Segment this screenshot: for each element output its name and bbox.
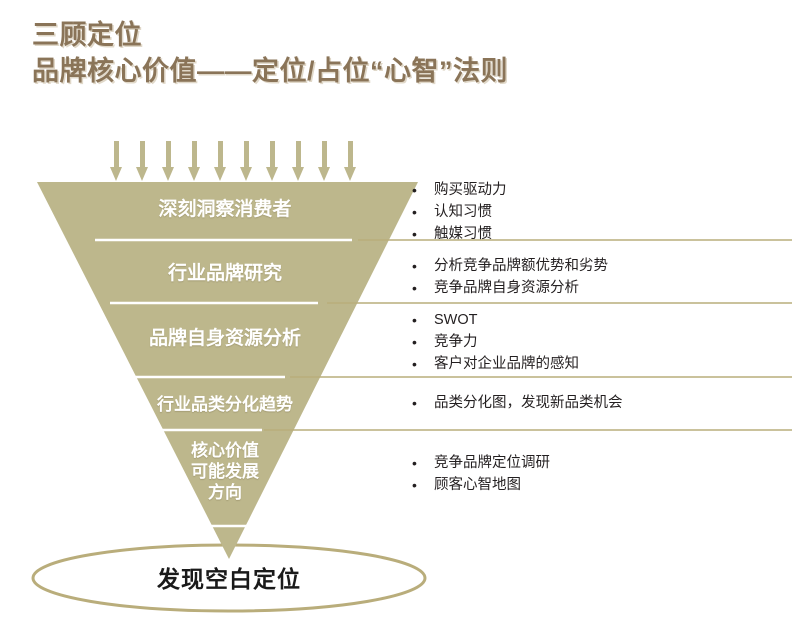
bullet-dot-icon: • bbox=[412, 474, 434, 496]
bullet-item: •认知习惯 bbox=[412, 201, 792, 223]
arrow-down-icon bbox=[344, 141, 357, 181]
arrow-head bbox=[136, 167, 148, 181]
arrow-down-icon bbox=[266, 141, 279, 181]
title-line-secondary: 品牌核心价值——定位/占位“心智”法则 bbox=[32, 52, 772, 90]
funnel-stage-label-5: 核心价值 可能发展 方向 bbox=[150, 440, 300, 503]
bullet-dot-icon: • bbox=[412, 309, 434, 331]
bullet-dot-icon: • bbox=[412, 179, 434, 201]
funnel-stage-label-1: 深刻洞察消费者 bbox=[90, 198, 360, 222]
bullet-dot-icon: • bbox=[412, 331, 434, 353]
title-line-primary: 三顾定位 bbox=[32, 18, 772, 52]
arrow-shaft bbox=[114, 141, 119, 168]
arrow-head bbox=[266, 167, 278, 181]
arrow-head bbox=[344, 167, 356, 181]
funnel-stage-label-2: 行业品牌研究 bbox=[100, 262, 350, 286]
bullet-dot-icon: • bbox=[412, 201, 434, 223]
bullet-item: •分析竞争品牌额优势和劣势 bbox=[412, 255, 792, 277]
bullet-item: •竞争力 bbox=[412, 331, 792, 353]
bullet-group-5: •竞争品牌定位调研•顾客心智地图 bbox=[412, 452, 792, 496]
bullet-group-2: •分析竞争品牌额优势和劣势•竞争品牌自身资源分析 bbox=[412, 255, 792, 299]
bullet-item: •购买驱动力 bbox=[412, 179, 792, 201]
bullet-text: 分析竞争品牌额优势和劣势 bbox=[434, 255, 792, 277]
bullet-text: SWOT bbox=[434, 309, 792, 331]
bullet-group-3: •SWOT•竞争力•客户对企业品牌的感知 bbox=[412, 309, 792, 375]
bullet-text: 顾客心智地图 bbox=[434, 474, 792, 496]
bullet-dot-icon: • bbox=[412, 255, 434, 277]
arrow-shaft bbox=[296, 141, 301, 168]
arrow-down-icon bbox=[292, 141, 305, 181]
arrow-shaft bbox=[270, 141, 275, 168]
bullet-item: •竞争品牌定位调研 bbox=[412, 452, 792, 474]
bullet-dot-icon: • bbox=[412, 353, 434, 375]
bullet-dot-icon: • bbox=[412, 223, 434, 245]
arrow-head bbox=[292, 167, 304, 181]
arrow-shaft bbox=[218, 141, 223, 168]
page-title: 三顾定位 品牌核心价值——定位/占位“心智”法则 bbox=[32, 18, 772, 90]
arrow-shaft bbox=[192, 141, 197, 168]
bullet-dot-icon: • bbox=[412, 452, 434, 474]
arrow-head bbox=[188, 167, 200, 181]
bullet-item: •客户对企业品牌的感知 bbox=[412, 353, 792, 375]
arrow-head bbox=[318, 167, 330, 181]
arrow-head bbox=[110, 167, 122, 181]
bullet-text: 触媒习惯 bbox=[434, 223, 792, 245]
bullet-text: 竞争力 bbox=[434, 331, 792, 353]
arrow-down-icon bbox=[162, 141, 175, 181]
arrow-down-icon bbox=[188, 141, 201, 181]
bullet-text: 竞争品牌自身资源分析 bbox=[434, 277, 792, 299]
arrow-down-icon bbox=[318, 141, 331, 181]
funnel-stage-label-3: 品牌自身资源分析 bbox=[110, 327, 340, 351]
arrow-head bbox=[214, 167, 226, 181]
bullet-text: 品类分化图，发现新品类机会 bbox=[434, 392, 792, 414]
arrow-down-icon bbox=[110, 141, 123, 181]
arrow-down-icon bbox=[136, 141, 149, 181]
funnel-outcome-label: 发现空白定位 bbox=[33, 560, 425, 594]
inflow-arrow-row bbox=[110, 141, 358, 181]
arrow-shaft bbox=[166, 141, 171, 168]
arrow-shaft bbox=[348, 141, 353, 168]
bullet-item: •顾客心智地图 bbox=[412, 474, 792, 496]
arrow-shaft bbox=[244, 141, 249, 168]
bullet-group-4: •品类分化图，发现新品类机会 bbox=[412, 392, 792, 414]
funnel-stage-label-4: 行业品类分化趋势 bbox=[130, 394, 320, 416]
bullet-group-1: •购买驱动力•认知习惯•触媒习惯 bbox=[412, 179, 792, 245]
bullet-item: •竞争品牌自身资源分析 bbox=[412, 277, 792, 299]
arrow-head bbox=[240, 167, 252, 181]
bullet-item: •品类分化图，发现新品类机会 bbox=[412, 392, 792, 414]
arrow-shaft bbox=[140, 141, 145, 168]
bullet-text: 认知习惯 bbox=[434, 201, 792, 223]
bullet-text: 购买驱动力 bbox=[434, 179, 792, 201]
arrow-down-icon bbox=[240, 141, 253, 181]
bullet-text: 客户对企业品牌的感知 bbox=[434, 353, 792, 375]
bullet-text: 竞争品牌定位调研 bbox=[434, 452, 792, 474]
bullet-dot-icon: • bbox=[412, 277, 434, 299]
bullet-item: •SWOT bbox=[412, 309, 792, 331]
arrow-down-icon bbox=[214, 141, 227, 181]
arrow-shaft bbox=[322, 141, 327, 168]
arrow-head bbox=[162, 167, 174, 181]
bullet-dot-icon: • bbox=[412, 392, 434, 414]
bullet-item: •触媒习惯 bbox=[412, 223, 792, 245]
